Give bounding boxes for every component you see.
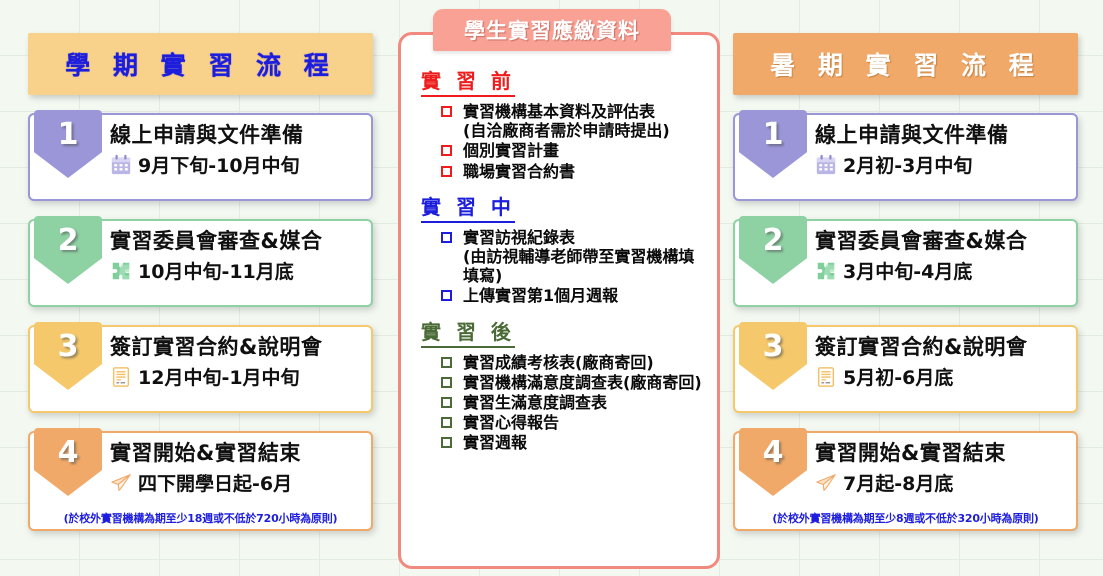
checkbox-icon[interactable] <box>441 145 452 156</box>
checkbox-icon[interactable] <box>441 232 452 243</box>
step-date: 9月下旬-10月中旬 <box>138 151 300 178</box>
list-item[interactable]: 實習機構基本資料及評估表(自洽廠商者需於申請時提出) <box>441 102 709 140</box>
semester-flow-column: 學 期 實 習 流 程 1 線上申請與文件準備 9月下旬-10月中旬 2 實習委… <box>28 0 373 531</box>
step-date: 10月中旬-11月底 <box>138 257 294 284</box>
step-date: 四下開學日起-6月 <box>138 469 292 496</box>
step-number-badge: 4 <box>34 428 102 496</box>
step-number-badge: 3 <box>739 322 807 390</box>
step-date: 5月初-6月底 <box>843 363 953 390</box>
calendar-icon <box>815 154 837 176</box>
list-item[interactable]: 實習生滿意度調查表 <box>441 393 709 412</box>
list-item[interactable]: 實習週報 <box>441 433 709 452</box>
section-heading-during: 實 習 中 <box>421 191 515 223</box>
section-heading-before: 實 習 前 <box>421 65 515 97</box>
step-title: 實習開始&實習結束 <box>110 440 365 466</box>
step-date: 7月起-8月底 <box>843 469 953 496</box>
step-title: 實習委員會審查&媒合 <box>110 228 365 254</box>
summer-flow-title: 暑 期 實 習 流 程 <box>733 33 1078 95</box>
puzzle-icon <box>815 260 837 282</box>
paper-plane-icon <box>110 472 132 494</box>
list-item[interactable]: 實習成績考核表(廠商寄回) <box>441 353 709 372</box>
puzzle-icon <box>110 260 132 282</box>
step-number-badge: 4 <box>739 428 807 496</box>
list-item-label: 實習機構滿意度調查表(廠商寄回) <box>463 373 702 392</box>
section-list-after: 實習成績考核表(廠商寄回) 實習機構滿意度調查表(廠商寄回) 實習生滿意度調查表… <box>413 353 709 453</box>
list-item-label: 實習訪視紀錄表 <box>463 228 575 247</box>
list-item-label: 實習生滿意度調查表 <box>463 393 607 412</box>
step-note: (於校外實習機構為期至少8週或不低於320小時為原則) <box>735 510 1076 526</box>
list-item-sub: (自洽廠商者需於申請時提出) <box>463 121 709 140</box>
step-date: 3月中旬-4月底 <box>843 257 972 284</box>
step-note: (於校外實習機構為期至少18週或不低於720小時為原則) <box>30 510 371 526</box>
checkbox-icon[interactable] <box>441 106 452 117</box>
step-card-summer-3[interactable]: 3 簽訂實習合約&說明會 5月初-6月底 <box>733 325 1078 413</box>
step-card-semester-4[interactable]: 4 實習開始&實習結束 四下開學日起-6月 (於校外實習機構為期至少18週或不低… <box>28 431 373 531</box>
step-number-badge: 1 <box>739 110 807 178</box>
semester-flow-title: 學 期 實 習 流 程 <box>28 33 373 95</box>
step-card-semester-3[interactable]: 3 簽訂實習合約&說明會 12月中旬-1月中旬 <box>28 325 373 413</box>
step-card-summer-4[interactable]: 4 實習開始&實習結束 7月起-8月底 (於校外實習機構為期至少8週或不低於32… <box>733 431 1078 531</box>
checkbox-icon[interactable] <box>441 290 452 301</box>
checkbox-icon[interactable] <box>441 397 452 408</box>
required-documents-panel: 學生實習應繳資料 實 習 前 實習機構基本資料及評估表(自洽廠商者需於申請時提出… <box>398 32 720 569</box>
step-date: 2月初-3月中旬 <box>843 151 972 178</box>
list-item-label: 實習心得報告 <box>463 413 559 432</box>
paper-plane-icon <box>815 472 837 494</box>
step-title: 實習開始&實習結束 <box>815 440 1070 466</box>
list-item-label: 實習機構基本資料及評估表 <box>463 102 655 121</box>
step-title: 線上申請與文件準備 <box>815 122 1070 148</box>
summer-flow-column: 暑 期 實 習 流 程 1 線上申請與文件準備 2月初-3月中旬 2 實習委員會… <box>733 0 1078 531</box>
checkbox-icon[interactable] <box>441 166 452 177</box>
checkbox-icon[interactable] <box>441 357 452 368</box>
list-item-label: 上傳實習第1個月週報 <box>463 286 618 305</box>
step-number-badge: 1 <box>34 110 102 178</box>
step-number-badge: 2 <box>34 216 102 284</box>
checkbox-icon[interactable] <box>441 417 452 428</box>
step-number-badge: 2 <box>739 216 807 284</box>
step-number-badge: 3 <box>34 322 102 390</box>
checkbox-icon[interactable] <box>441 377 452 388</box>
list-item-label: 個別實習計畫 <box>463 141 559 160</box>
list-item-label: 實習週報 <box>463 433 527 452</box>
list-item-label: 實習成績考核表(廠商寄回) <box>463 353 654 372</box>
document-icon <box>110 366 132 388</box>
step-card-summer-1[interactable]: 1 線上申請與文件準備 2月初-3月中旬 <box>733 113 1078 201</box>
list-item[interactable]: 上傳實習第1個月週報 <box>441 286 709 305</box>
step-card-semester-2[interactable]: 2 實習委員會審查&媒合 10月中旬-11月底 <box>28 219 373 307</box>
step-title: 簽訂實習合約&說明會 <box>815 334 1070 360</box>
step-title: 實習委員會審查&媒合 <box>815 228 1070 254</box>
list-item-label: 職場實習合約書 <box>463 162 575 181</box>
list-item[interactable]: 個別實習計畫 <box>441 141 709 160</box>
checkbox-icon[interactable] <box>441 437 452 448</box>
step-card-summer-2[interactable]: 2 實習委員會審查&媒合 3月中旬-4月底 <box>733 219 1078 307</box>
section-list-before: 實習機構基本資料及評估表(自洽廠商者需於申請時提出) 個別實習計畫 職場實習合約… <box>413 102 709 181</box>
document-icon <box>815 366 837 388</box>
list-item[interactable]: 職場實習合約書 <box>441 162 709 181</box>
step-date: 12月中旬-1月中旬 <box>138 363 300 390</box>
section-heading-after: 實 習 後 <box>421 316 515 348</box>
required-documents-banner: 學生實習應繳資料 <box>433 9 671 51</box>
list-item-sub: (由訪視輔導老師帶至實習機構填填寫) <box>463 247 709 285</box>
list-item[interactable]: 實習訪視紀錄表(由訪視輔導老師帶至實習機構填填寫) <box>441 228 709 286</box>
calendar-icon <box>110 154 132 176</box>
step-title: 線上申請與文件準備 <box>110 122 365 148</box>
list-item[interactable]: 實習心得報告 <box>441 413 709 432</box>
section-list-during: 實習訪視紀錄表(由訪視輔導老師帶至實習機構填填寫) 上傳實習第1個月週報 <box>413 228 709 306</box>
step-card-semester-1[interactable]: 1 線上申請與文件準備 9月下旬-10月中旬 <box>28 113 373 201</box>
list-item[interactable]: 實習機構滿意度調查表(廠商寄回) <box>441 373 709 392</box>
step-title: 簽訂實習合約&說明會 <box>110 334 365 360</box>
